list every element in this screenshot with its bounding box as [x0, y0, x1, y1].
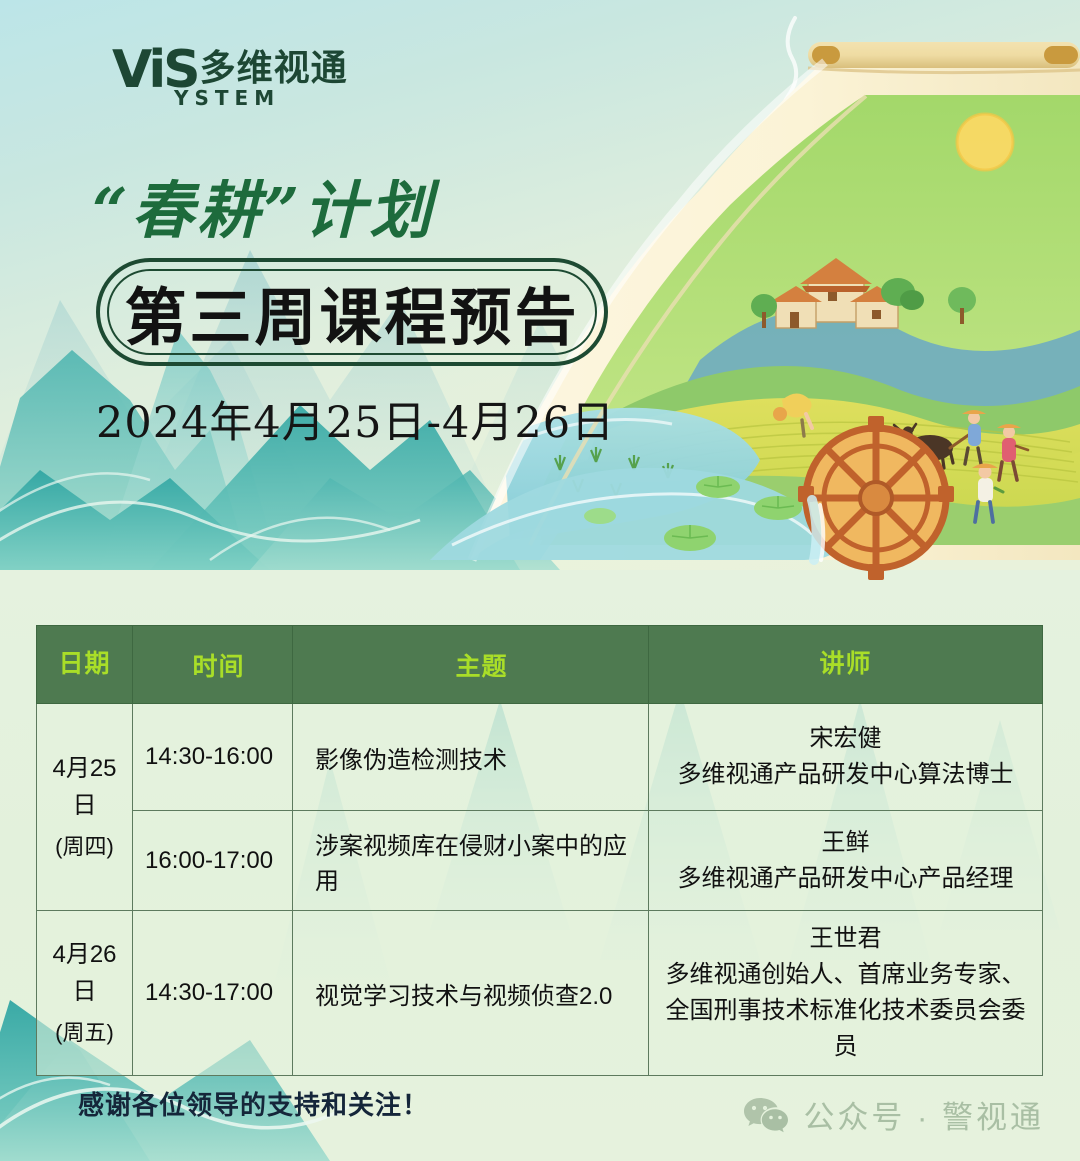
cell-speaker: 王鲜 多维视通产品研发中心产品经理: [649, 811, 1043, 911]
speaker-name: 王鲜: [657, 825, 1034, 861]
poster-root: ViS YSTEM 多维视通 “春耕”计划 第三周课程预告 2024年4月25日…: [0, 0, 1080, 1161]
thanks-note: 感谢各位领导的支持和关注！: [78, 1085, 429, 1122]
cell-topic: 视觉学习技术与视频侦查2.0: [293, 911, 649, 1076]
date-main: 4月25日: [45, 750, 124, 824]
cell-speaker: 宋宏健 多维视通产品研发中心算法博士: [649, 704, 1043, 811]
speaker-title-2: 全国刑事技术标准化技术委员会委员: [657, 993, 1034, 1065]
wechat-account-text: 公众号 · 警视通: [803, 1092, 1044, 1137]
campaign-title: “春耕”计划: [92, 160, 435, 250]
speaker-name: 宋宏健: [657, 721, 1034, 757]
column-header-time: 时间: [133, 626, 293, 704]
speaker-name: 王世君: [657, 921, 1034, 957]
speaker-title: 多维视通创始人、首席业务专家、: [657, 957, 1034, 993]
speaker-title: 多维视通产品研发中心算法博士: [657, 757, 1034, 793]
cell-time: 14:30-16:00: [133, 704, 293, 811]
schedule-table: 日期 时间 主题 讲师 4月25日 (周四) 14:30-16:00 影像伪造检…: [36, 625, 1043, 1076]
brand-logo: ViS YSTEM 多维视通: [112, 46, 348, 95]
logo-company-name: 多维视通: [200, 50, 348, 86]
boxed-title-frame: 第三周课程预告: [96, 258, 608, 366]
cell-time: 16:00-17:00: [133, 811, 293, 911]
column-header-date: 日期: [37, 626, 133, 704]
table-row: 4月25日 (周四) 14:30-16:00 影像伪造检测技术 宋宏健 多维视通…: [37, 704, 1043, 811]
cell-topic: 涉案视频库在侵财小案中的应用: [293, 811, 649, 911]
cell-date: 4月26日 (周五): [37, 911, 133, 1076]
column-header-topic: 主题: [293, 626, 649, 704]
date-weekday: (周五): [45, 1016, 124, 1050]
date-range: 2024年4月25日-4月26日: [96, 388, 615, 450]
wechat-account: 公众号 · 警视通: [743, 1092, 1044, 1137]
cell-topic: 影像伪造检测技术: [293, 704, 649, 811]
table-row: 16:00-17:00 涉案视频库在侵财小案中的应用 王鲜 多维视通产品研发中心…: [37, 811, 1043, 911]
wechat-icon: [743, 1096, 789, 1134]
speaker-title: 多维视通产品研发中心产品经理: [657, 861, 1034, 897]
table-header-row: 日期 时间 主题 讲师: [37, 626, 1043, 704]
cell-date: 4月25日 (周四): [37, 704, 133, 911]
date-main: 4月26日: [45, 936, 124, 1010]
table-row: 4月26日 (周五) 14:30-17:00 视觉学习技术与视频侦查2.0 王世…: [37, 911, 1043, 1076]
page-title: 第三周课程预告: [100, 262, 604, 362]
date-weekday: (周四): [45, 830, 124, 864]
logo-system-text: YSTEM: [174, 86, 280, 110]
column-header-speaker: 讲师: [649, 626, 1043, 704]
cell-time: 14:30-17:00: [133, 911, 293, 1076]
cell-speaker: 王世君 多维视通创始人、首席业务专家、 全国刑事技术标准化技术委员会委员: [649, 911, 1043, 1076]
